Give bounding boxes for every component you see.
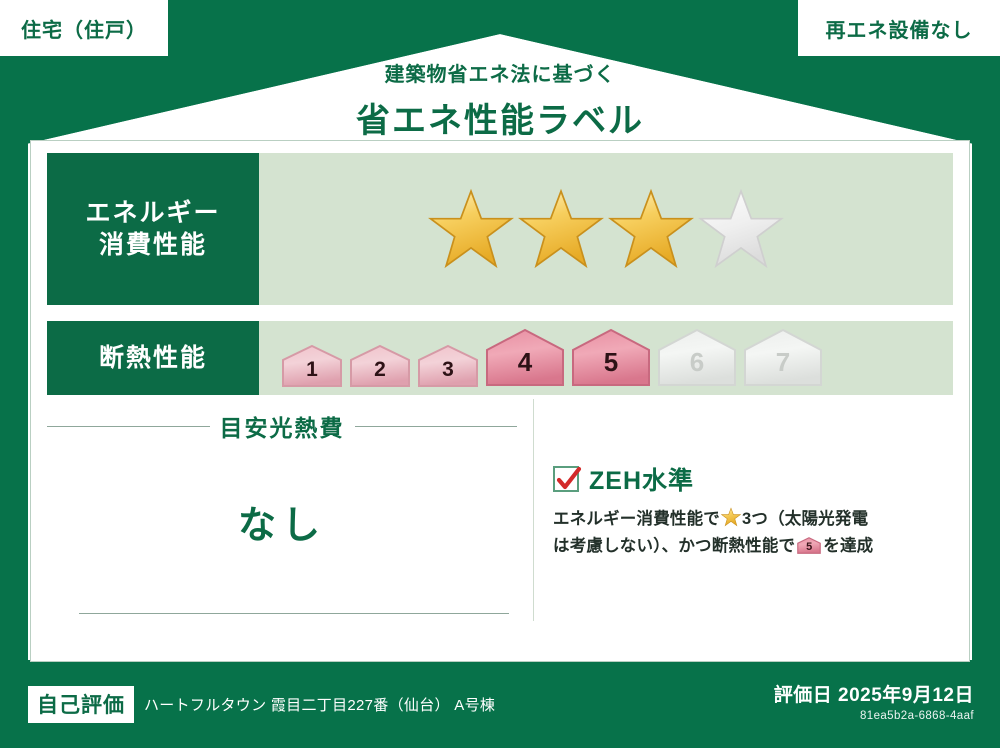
insulation-level-1: 1 [281, 344, 343, 388]
footer-right-group: 評価日 2025年9月12日 81ea5b2a-6868-4aaf [774, 680, 974, 722]
zeh-desc-part2: は考慮しない）、かつ断熱性能で [553, 537, 795, 555]
insulation-level-3-number: 3 [417, 358, 479, 382]
heading-rule-right [355, 426, 518, 427]
zeh-title: ZEH水準 [589, 461, 694, 497]
insulation-performance-value: 1 2 3 [259, 321, 953, 395]
building-type-tag: 住宅（住戸） [0, 0, 168, 56]
insulation-level-7: 7 [743, 328, 823, 388]
property-name: ハートフルタウン 霞目二丁目227番（仙台） A号棟 [144, 694, 495, 715]
page-title: 省エネ性能ラベル [0, 93, 1000, 142]
utility-cost-heading-text: 目安光熱費 [220, 409, 345, 443]
utility-cost-bottom-rule [79, 613, 509, 614]
self-evaluation-badge: 自己評価 [28, 686, 134, 723]
star-icon-1 [428, 186, 514, 272]
zeh-description: エネルギー消費性能で3つ（太陽光発電は考慮しない）、かつ断熱性能で5を達成 [553, 506, 953, 563]
label-title-block: 建築物省エネ法に基づく 省エネ性能ラベル [0, 58, 1000, 142]
insulation-level-5: 5 [571, 328, 651, 388]
insulation-label-text: 断熱性能 [99, 342, 207, 374]
heading-rule-left [47, 426, 210, 427]
insulation-performance-label: 断熱性能 [47, 321, 259, 395]
inline-star-icon [721, 507, 741, 527]
energy-label-root: 住宅（住戸） 再エネ設備なし 建築物省エネ法に基づく 省エネ性能ラベル エネルギ… [0, 0, 1000, 748]
zeh-checkbox[interactable] [553, 466, 579, 492]
utility-cost-value: なし [47, 441, 517, 601]
insulation-level-7-number: 7 [743, 347, 823, 378]
energy-performance-value [259, 153, 953, 305]
inline-house-badge: 5 [797, 536, 821, 564]
insulation-level-4-number: 4 [485, 347, 565, 378]
insulation-level-5-number: 5 [571, 347, 651, 378]
zeh-standard-block: ZEH水準 エネルギー消費性能で3つ（太陽光発電は考慮しない）、かつ断熱性能で5… [553, 461, 953, 563]
star-icon-4-empty [698, 186, 784, 272]
insulation-level-scale: 1 2 3 [281, 328, 823, 388]
energy-performance-label: エネルギー 消費性能 [47, 153, 259, 305]
frame-rail-left [0, 140, 28, 665]
label-card: エネルギー 消費性能 [30, 140, 970, 662]
renewable-equipment-tag: 再エネ設備なし [798, 0, 1000, 56]
insulation-level-6: 6 [657, 328, 737, 388]
insulation-level-2: 2 [349, 344, 411, 388]
insulation-level-4: 4 [485, 328, 565, 388]
insulation-level-6-number: 6 [657, 347, 737, 378]
zeh-desc-star-count: 3つ（太陽光発電 [742, 510, 868, 528]
check-icon [556, 466, 582, 494]
zeh-desc-part1: エネルギー消費性能で [553, 510, 720, 528]
inline-house-level: 5 [797, 539, 821, 557]
frame-rail-right [972, 140, 1000, 665]
insulation-performance-row: 断熱性能 [47, 321, 953, 395]
energy-label-line1: エネルギー [85, 197, 220, 229]
star-icon-2 [518, 186, 604, 272]
zeh-desc-part3: を達成 [823, 537, 873, 555]
evaluation-id: 81ea5b2a-6868-4aaf [774, 710, 974, 722]
label-footer: 自己評価 ハートフルタウン 霞目二丁目227番（仙台） A号棟 評価日 2025… [0, 660, 1000, 748]
star-rating [428, 186, 784, 272]
insulation-level-2-number: 2 [349, 358, 411, 382]
title-subtitle: 建築物省エネ法に基づく [0, 58, 1000, 87]
star-icon-3 [608, 186, 694, 272]
energy-performance-row: エネルギー 消費性能 [47, 153, 953, 305]
evaluation-date: 評価日 2025年9月12日 [774, 680, 974, 707]
insulation-level-1-number: 1 [281, 358, 343, 382]
zeh-title-row: ZEH水準 [553, 461, 953, 497]
utility-cost-heading: 目安光熱費 [47, 409, 517, 443]
insulation-level-3: 3 [417, 344, 479, 388]
section-divider-vertical [533, 399, 534, 621]
footer-left-group: 自己評価 ハートフルタウン 霞目二丁目227番（仙台） A号棟 [28, 686, 495, 723]
energy-label-line2: 消費性能 [99, 229, 207, 261]
